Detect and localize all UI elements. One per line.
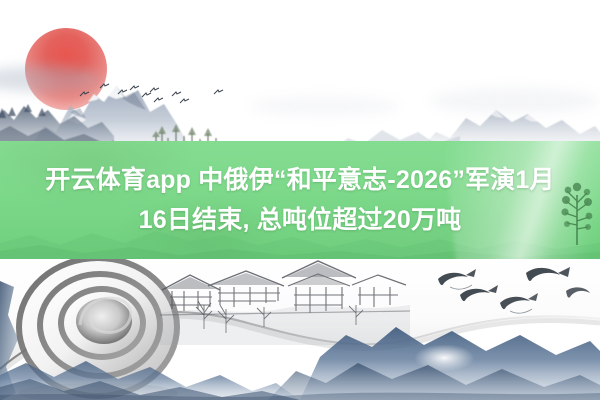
flying-bird-icon [142, 93, 151, 98]
headline-line-2: 16日结束, 总吨位超过20万吨 [139, 201, 462, 239]
flying-bird-icon [150, 88, 159, 93]
flying-bird-icon [118, 90, 127, 95]
flying-bird-icon [214, 90, 223, 95]
blue-ink-mountains [0, 305, 600, 400]
flying-bird-icon [154, 98, 163, 103]
bottom-scroll-scene [0, 259, 600, 400]
banner-image: 开云体育app 中俄伊“和平意志-2026”军演1月 16日结束, 总吨位超过2… [0, 0, 600, 400]
headline-line-1: 开云体育app 中俄伊“和平意志-2026”军演1月 [45, 161, 554, 199]
flying-bird-icon [80, 92, 89, 97]
headline-block: 开云体育app 中俄伊“和平意志-2026”军演1月 16日结束, 总吨位超过2… [0, 141, 600, 259]
green-headline-band: 开云体育app 中俄伊“和平意志-2026”军演1月 16日结束, 总吨位超过2… [0, 141, 600, 259]
flying-bird-icon [180, 99, 189, 104]
flying-bird-icon [172, 92, 181, 97]
flying-bird-icon [130, 86, 139, 91]
flying-bird-icon [100, 84, 109, 89]
top-landscape-scene [0, 0, 600, 150]
